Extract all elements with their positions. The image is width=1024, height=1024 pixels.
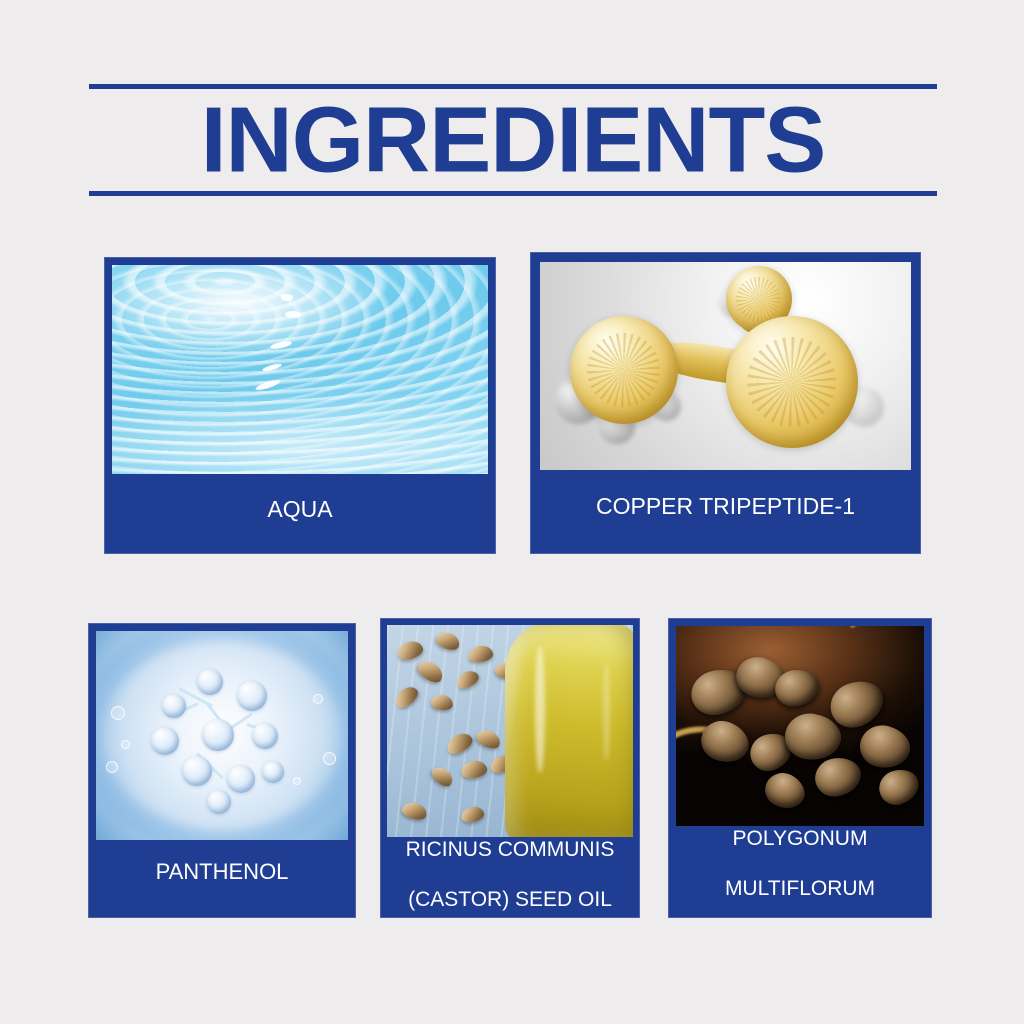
castor-caption-line-2: (CASTOR) SEED OIL <box>406 887 615 913</box>
castor-seed-oil-caption: RICINUS COMMUNIS (CASTOR) SEED OIL <box>381 837 639 918</box>
panthenol-photo <box>96 631 348 840</box>
castor-caption-line-1: RICINUS COMMUNIS <box>406 837 615 863</box>
ingredient-card-polygonum-multiflorum[interactable]: POLYGONUM MULTIFLORUM EXTRACT <box>668 618 932 918</box>
polygonum-caption-line-1: POLYGONUM <box>725 826 875 852</box>
aqua-caption: AQUA <box>105 474 495 553</box>
header-rule-bottom <box>89 191 937 196</box>
ingredient-card-copper-tripeptide[interactable]: COPPER TRIPEPTIDE-1 <box>530 252 921 554</box>
copper-tripeptide-caption-line: COPPER TRIPEPTIDE-1 <box>596 492 855 520</box>
polygonum-multiflorum-caption: POLYGONUM MULTIFLORUM EXTRACT <box>669 826 931 918</box>
page-header: INGREDIENTS <box>89 84 937 196</box>
panthenol-caption-line: PANTHENOL <box>156 859 289 886</box>
ingredient-card-aqua[interactable]: AQUA <box>104 257 496 554</box>
ingredient-card-castor-seed-oil[interactable]: RICINUS COMMUNIS (CASTOR) SEED OIL <box>380 618 640 918</box>
copper-tripeptide-caption: COPPER TRIPEPTIDE-1 <box>531 470 920 553</box>
castor-seed-oil-photo <box>387 625 633 837</box>
polygonum-multiflorum-photo <box>676 626 924 826</box>
aqua-photo <box>112 265 488 474</box>
page-title: INGREDIENTS <box>89 94 937 187</box>
polygonum-caption-line-2: MULTIFLORUM <box>725 876 875 902</box>
panthenol-caption: PANTHENOL <box>89 840 355 917</box>
ingredient-card-panthenol[interactable]: PANTHENOL <box>88 623 356 918</box>
aqua-caption-line: AQUA <box>267 495 332 523</box>
copper-tripeptide-photo <box>540 262 911 470</box>
